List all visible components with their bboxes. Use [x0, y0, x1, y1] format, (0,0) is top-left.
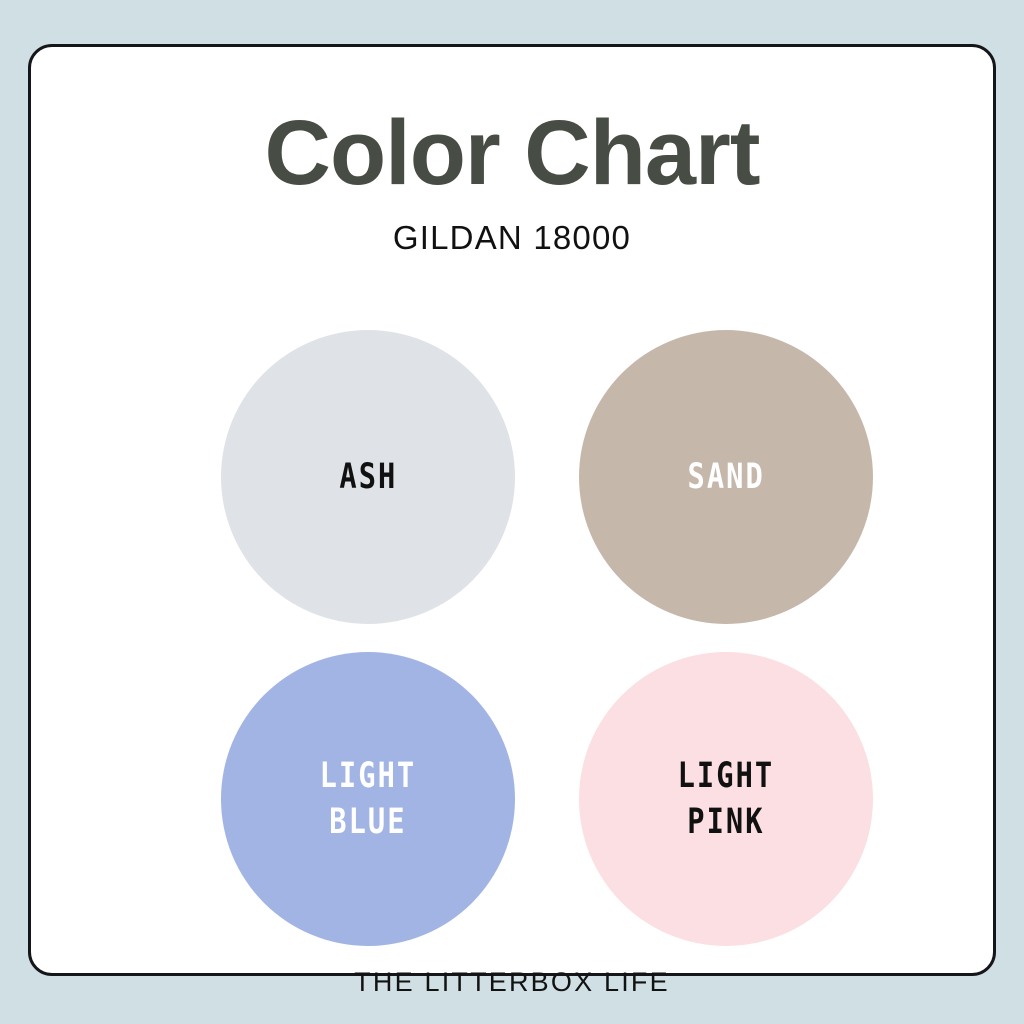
swatch-label-ash: ASH [339, 454, 397, 500]
swatch-grid: ASH SAND LIGHT BLUE LIGHT PINK [59, 330, 1024, 950]
brand-name: THE LITTERBOX LIFE [354, 967, 670, 997]
page-title: Color Chart [31, 107, 993, 199]
swatch-label-light-blue: LIGHT BLUE [320, 753, 417, 845]
swatch-label-sand: SAND [687, 454, 764, 500]
color-swatch-sand[interactable]: SAND [579, 330, 873, 624]
chart-card: Color Chart GILDAN 18000 ASH SAND LIGHT … [28, 44, 996, 976]
chart-footer: THE LITTERBOX LIFE [31, 967, 993, 998]
swatch-label-light-pink: LIGHT PINK [678, 753, 775, 845]
color-swatch-light-pink[interactable]: LIGHT PINK [579, 652, 873, 946]
color-swatch-light-blue[interactable]: LIGHT BLUE [221, 652, 515, 946]
color-swatch-ash[interactable]: ASH [221, 330, 515, 624]
chart-subtitle: GILDAN 18000 [31, 219, 993, 257]
chart-header: Color Chart GILDAN 18000 [31, 107, 993, 257]
color-chart-page: Color Chart GILDAN 18000 ASH SAND LIGHT … [0, 0, 1024, 1024]
